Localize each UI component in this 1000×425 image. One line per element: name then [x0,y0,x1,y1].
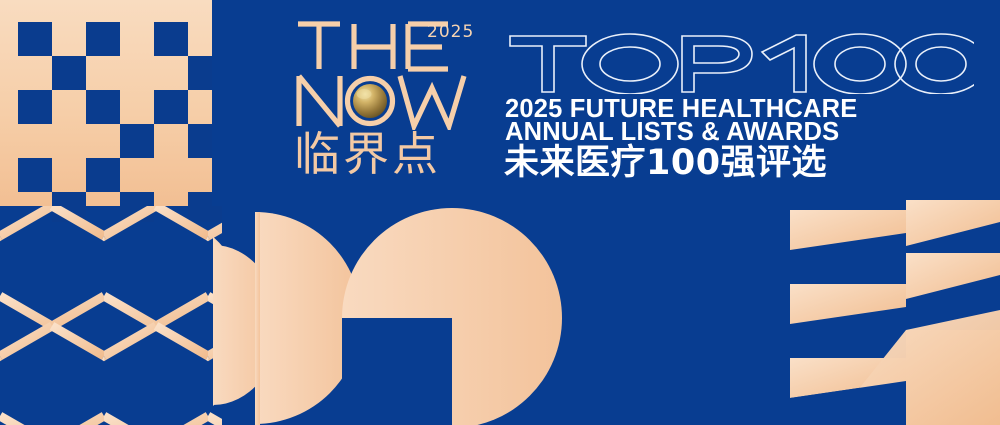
headline-block: 2025 FUTURE HEALTHCARE ANNUAL LISTS & AW… [504,22,974,94]
hexagon-lattice-pattern [0,206,240,425]
checkerboard-pattern [0,0,222,222]
headline-english-line-2: ANNUAL LISTS & AWARDS [505,121,839,144]
top100-outline-text [504,22,974,94]
wordmark-now [296,72,471,130]
event-banner: 2025 [0,0,1000,425]
the-now-wordmark: 2025 [296,20,496,190]
headline-chinese-line: 未来医疗100强评选 [504,144,827,182]
wordmark-year: 2025 [427,22,474,42]
wordmark-chinese: 临界点 [294,130,441,178]
notched-circle [342,208,562,425]
gold-sphere-o [353,84,387,118]
